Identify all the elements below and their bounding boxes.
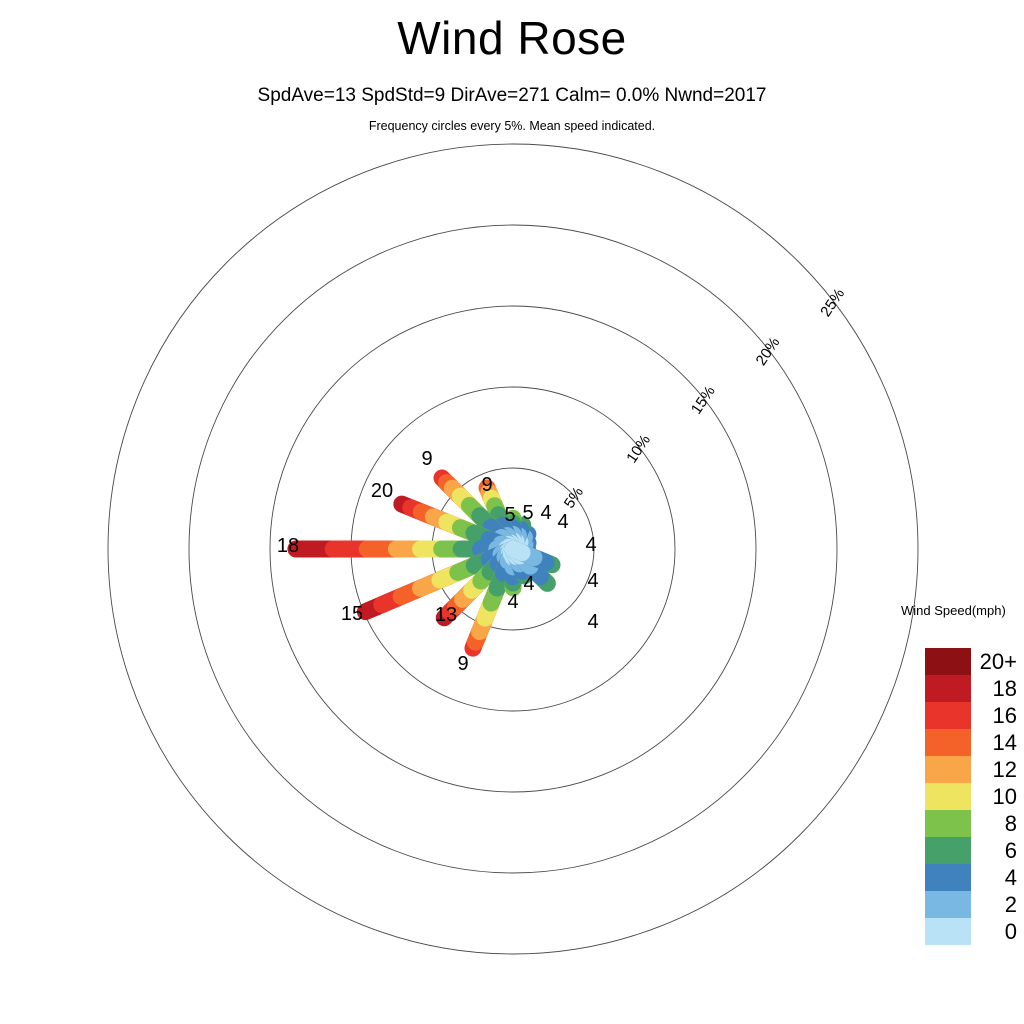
legend-swatch bbox=[925, 891, 971, 918]
legend-entry: 16 bbox=[925, 702, 1021, 729]
legend-label: 8 bbox=[971, 810, 1021, 837]
petal-mean-speed-label: 9 bbox=[481, 474, 492, 496]
petal-mean-speed-label: 15 bbox=[341, 603, 363, 625]
wind-speed-legend: 20+181614121086420 bbox=[925, 648, 1021, 945]
legend-entry: 4 bbox=[925, 864, 1021, 891]
petal-mean-speed-label: 4 bbox=[540, 502, 551, 524]
legend-swatch bbox=[925, 783, 971, 810]
wind-rose-plot: 5%10%15%20%25% 99201815139554444444 bbox=[0, 0, 1024, 1024]
petal-mean-speed-label: 4 bbox=[587, 611, 598, 633]
legend-entry: 0 bbox=[925, 918, 1021, 945]
legend-entry: 20+ bbox=[925, 648, 1021, 675]
legend-entry: 12 bbox=[925, 756, 1021, 783]
petal-mean-speed-label: 9 bbox=[457, 653, 468, 675]
legend-title: Wind Speed(mph) bbox=[901, 603, 1006, 618]
petal-mean-speed-label: 20 bbox=[371, 480, 393, 502]
petal-mean-speed-label: 4 bbox=[587, 570, 598, 592]
legend-label: 12 bbox=[971, 756, 1021, 783]
legend-swatch bbox=[925, 756, 971, 783]
petal-mean-speed-label: 4 bbox=[585, 534, 596, 556]
petal-mean-speed-label: 13 bbox=[435, 604, 457, 626]
petal-mean-speed-label: 4 bbox=[507, 591, 518, 613]
legend-swatch bbox=[925, 810, 971, 837]
legend-label: 14 bbox=[971, 729, 1021, 756]
legend-entry: 10 bbox=[925, 783, 1021, 810]
wind-rose-page: Wind Rose SpdAve=13 SpdStd=9 DirAve=271 … bbox=[0, 0, 1024, 1024]
legend-swatch bbox=[925, 702, 971, 729]
radial-tick-label: 5% bbox=[561, 484, 587, 511]
radial-axis-tick-labels: 5%10%15%20%25% bbox=[561, 286, 848, 512]
legend-label: 16 bbox=[971, 702, 1021, 729]
legend-label: 2 bbox=[971, 891, 1021, 918]
legend-entry: 8 bbox=[925, 810, 1021, 837]
petal-mean-speed-label: 5 bbox=[504, 504, 515, 526]
legend-swatch bbox=[925, 675, 971, 702]
petal-segment bbox=[513, 549, 522, 553]
legend-swatch bbox=[925, 648, 971, 675]
petal-mean-speed-label: 5 bbox=[522, 502, 533, 524]
petal-mean-speed-label: 4 bbox=[523, 573, 534, 595]
legend-swatch bbox=[925, 918, 971, 945]
legend-swatch bbox=[925, 864, 971, 891]
legend-label: 20+ bbox=[971, 648, 1021, 675]
legend-swatch bbox=[925, 729, 971, 756]
legend-entry: 2 bbox=[925, 891, 1021, 918]
legend-swatch bbox=[925, 837, 971, 864]
legend-label: 18 bbox=[971, 675, 1021, 702]
legend-label: 6 bbox=[971, 837, 1021, 864]
legend-label: 4 bbox=[971, 864, 1021, 891]
petal-mean-speed-label: 9 bbox=[421, 448, 432, 470]
petal-mean-speed-label: 18 bbox=[277, 535, 299, 557]
legend-entry: 18 bbox=[925, 675, 1021, 702]
petal-mean-speed-label: 4 bbox=[557, 511, 568, 533]
legend-entry: 6 bbox=[925, 837, 1021, 864]
legend-label: 10 bbox=[971, 783, 1021, 810]
legend-entry: 14 bbox=[925, 729, 1021, 756]
legend-label: 0 bbox=[971, 918, 1021, 945]
